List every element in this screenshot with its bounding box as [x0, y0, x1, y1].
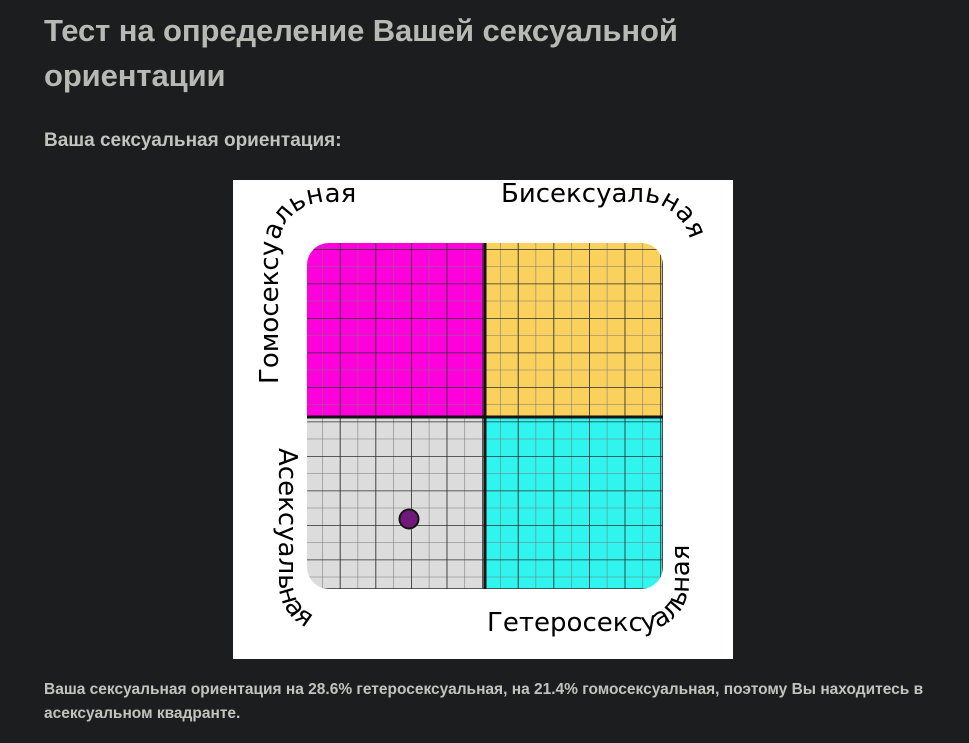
result-data-point: [400, 510, 419, 529]
orientation-chart-card: Гомосексуальная Бисексуальная Асексуальн…: [233, 180, 733, 659]
page-title: Тест на определение Вашей сексуальной ор…: [44, 8, 804, 98]
page-root: Тест на определение Вашей сексуальной ор…: [0, 0, 969, 743]
result-subtitle: Ваша сексуальная ориентация:: [44, 128, 342, 154]
result-description: Ваша сексуальная ориентация на 28.6% гет…: [44, 678, 934, 726]
orientation-quadrant-chart: Гомосексуальная Бисексуальная Асексуальн…: [233, 180, 733, 659]
